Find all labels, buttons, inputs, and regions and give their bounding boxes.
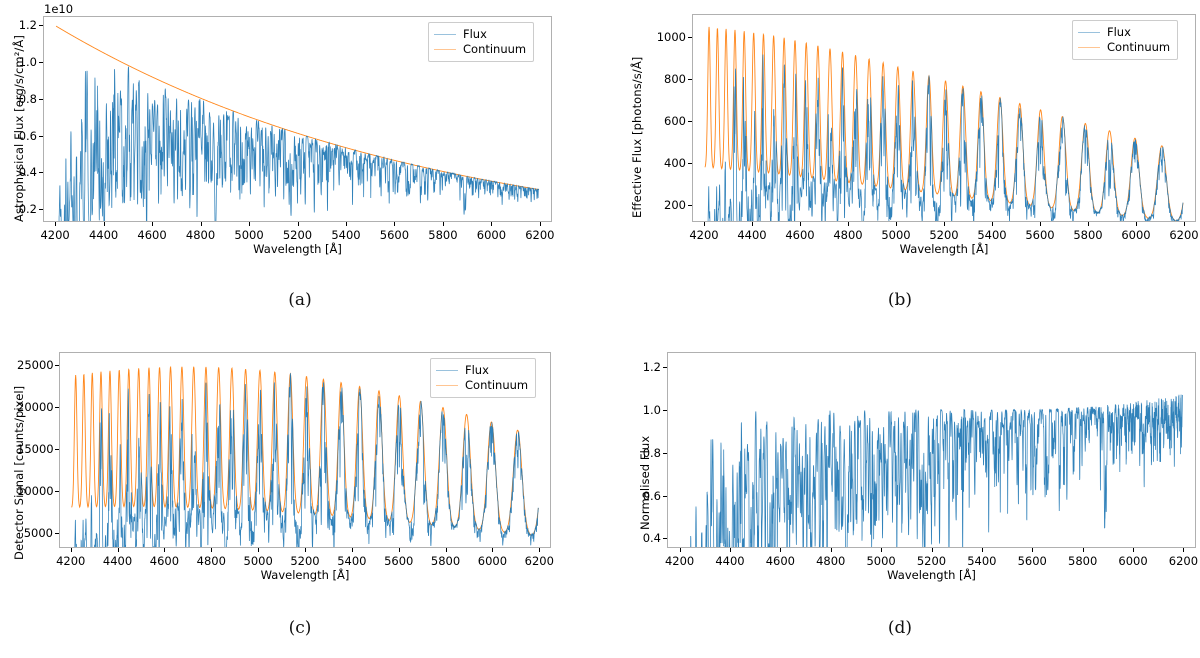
legend-swatch-flux — [434, 34, 456, 35]
panel-d-xtick-label: 4600 — [766, 554, 795, 568]
panel-c-xtick-mark — [539, 548, 540, 552]
panel-d-ytick-mark — [663, 453, 667, 454]
legend-swatch-flux — [1078, 32, 1100, 33]
panel-b-xlabel: Wavelength [Å] — [692, 242, 1196, 256]
panel-c-xtick-mark — [71, 548, 72, 552]
panel-a-xtick-label: 5800 — [428, 228, 457, 242]
panel-a-ytick-mark — [39, 99, 43, 100]
panel-d-xtick-mark — [1083, 548, 1084, 552]
panel-a-xtick-label: 6200 — [525, 228, 554, 242]
panel-d-xtick-label: 5800 — [1068, 554, 1097, 568]
panel-a-legend[interactable]: Flux Continuum — [428, 22, 534, 62]
panel-b-ytick-label: 200 — [650, 198, 686, 212]
panel-c-xtick-mark — [164, 548, 165, 552]
panel-b-xtick-label: 5800 — [1073, 228, 1102, 242]
panel-c-legend[interactable]: Flux Continuum — [430, 358, 536, 398]
panel-c-xtick-mark — [118, 548, 119, 552]
figure-root: Astrophysical Flux [erg/s/cm²/Å] 1e10 0.… — [0, 0, 1200, 658]
legend-swatch-flux — [436, 370, 458, 371]
panel-d-ytick-mark — [663, 367, 667, 368]
legend-label-continuum: Continuum — [1107, 40, 1170, 55]
panel-a-xtick-label: 5400 — [331, 228, 360, 242]
panel-b-xtick-label: 6000 — [1121, 228, 1150, 242]
panel-d-xtick-label: 4200 — [665, 554, 694, 568]
panel-d-series-canvas — [668, 353, 1195, 547]
panel-c-xtick-label: 4400 — [103, 554, 132, 568]
legend-label-continuum: Continuum — [465, 378, 528, 393]
panel-d-xtick-mark — [831, 548, 832, 552]
panel-d-ytick-mark — [663, 496, 667, 497]
panel-c-xtick-label: 5600 — [384, 554, 413, 568]
panel-c-xlabel: Wavelength [Å] — [59, 568, 551, 582]
panel-c-ytick-mark — [55, 491, 59, 492]
panel-a-ytick-label: 0.2 — [1, 202, 37, 216]
panel-b-xtick-mark — [1088, 222, 1089, 226]
legend-entry-continuum: Continuum — [1078, 40, 1170, 55]
panel-a-caption: (a) — [0, 290, 600, 310]
panel-c: Detector Signal [counts/pixel] 500010000… — [0, 330, 600, 658]
panel-a-ytick-mark — [39, 136, 43, 137]
panel-b-ylabel: Effective Flux [photons/s/Å] — [630, 57, 644, 218]
panel-d-ytick-mark — [663, 538, 667, 539]
panel-c-xtick-mark — [399, 548, 400, 552]
panel-c-ytick-mark — [55, 365, 59, 366]
panel-c-ytick-mark — [55, 449, 59, 450]
legend-label-continuum: Continuum — [463, 42, 526, 57]
panel-c-ytick-label: 5000 — [17, 526, 53, 540]
panel-a-ytick-label: 0.6 — [1, 129, 37, 143]
panel-d-caption: (d) — [600, 618, 1200, 638]
panel-c-xtick-mark — [305, 548, 306, 552]
panel-c-ytick-label: 25000 — [17, 358, 53, 372]
panel-c-caption: (c) — [0, 618, 600, 638]
panel-b-xtick-label: 4200 — [689, 228, 718, 242]
panel-d-ytick-label: 0.4 — [625, 531, 661, 545]
panel-a: Astrophysical Flux [erg/s/cm²/Å] 1e10 0.… — [0, 0, 600, 330]
panel-d-xtick-label: 5400 — [967, 554, 996, 568]
panel-a-xtick-label: 4600 — [137, 228, 166, 242]
panel-b-xtick-label: 4800 — [833, 228, 862, 242]
panel-c-xtick-mark — [446, 548, 447, 552]
panel-d-xtick-label: 6200 — [1169, 554, 1198, 568]
panel-b-xtick-mark — [848, 222, 849, 226]
panel-d-xtick-mark — [1032, 548, 1033, 552]
panel-a-ytick-mark — [39, 172, 43, 173]
panel-a-xtick-label: 4800 — [186, 228, 215, 242]
panel-d-xtick-mark — [1183, 548, 1184, 552]
panel-c-xtick-label: 4600 — [150, 554, 179, 568]
panel-b-ytick-mark — [688, 79, 692, 80]
panel-c-ytick-mark — [55, 533, 59, 534]
panel-b-xtick-label: 5400 — [977, 228, 1006, 242]
panel-c-xtick-mark — [211, 548, 212, 552]
panel-b-ytick-mark — [688, 163, 692, 164]
panel-a-xtick-mark — [104, 222, 105, 226]
legend-entry-flux: Flux — [434, 27, 526, 42]
panel-c-xtick-label: 4200 — [56, 554, 85, 568]
panel-b-ytick-label: 600 — [650, 114, 686, 128]
panel-a-ytick-mark — [39, 62, 43, 63]
legend-label-flux: Flux — [1107, 25, 1131, 40]
panel-c-xtick-mark — [492, 548, 493, 552]
panel-d-xtick-label: 5600 — [1018, 554, 1047, 568]
panel-c-xtick-label: 5800 — [431, 554, 460, 568]
panel-d-xtick-label: 4800 — [816, 554, 845, 568]
legend-entry-continuum: Continuum — [436, 378, 528, 393]
panel-b-xtick-mark — [1184, 222, 1185, 226]
panel-a-xtick-label: 5000 — [234, 228, 263, 242]
panel-d-xtick-mark — [932, 548, 933, 552]
legend-label-flux: Flux — [463, 27, 487, 42]
legend-entry-continuum: Continuum — [434, 42, 526, 57]
panel-a-xtick-mark — [491, 222, 492, 226]
panel-b-xtick-mark — [704, 222, 705, 226]
panel-c-ytick-label: 10000 — [17, 484, 53, 498]
panel-a-ytick-label: 1.2 — [1, 18, 37, 32]
panel-b-xtick-mark — [752, 222, 753, 226]
panel-c-xtick-label: 5000 — [244, 554, 273, 568]
legend-swatch-continuum — [436, 385, 458, 386]
panel-a-xlabel: Wavelength [Å] — [43, 242, 552, 256]
panel-a-xtick-label: 5200 — [283, 228, 312, 242]
panel-b-xtick-label: 5600 — [1025, 228, 1054, 242]
panel-d-ytick-label: 1.2 — [625, 360, 661, 374]
panel-d-xtick-mark — [680, 548, 681, 552]
panel-a-xtick-mark — [394, 222, 395, 226]
panel-d-flux-line — [681, 395, 1183, 547]
legend-swatch-continuum — [434, 49, 456, 50]
panel-b-xtick-label: 5200 — [929, 228, 958, 242]
panel-d-xtick-mark — [881, 548, 882, 552]
panel-b-xtick-mark — [800, 222, 801, 226]
panel-b-xtick-label: 5000 — [881, 228, 910, 242]
panel-b-xtick-label: 4400 — [737, 228, 766, 242]
panel-a-xtick-mark — [298, 222, 299, 226]
legend-entry-flux: Flux — [1078, 25, 1170, 40]
panel-a-xtick-label: 5600 — [380, 228, 409, 242]
panel-c-ytick-mark — [55, 407, 59, 408]
panel-b-ytick-label: 400 — [650, 156, 686, 170]
panel-b-ytick-label: 800 — [650, 72, 686, 86]
panel-d-xtick-mark — [982, 548, 983, 552]
panel-b-ytick-mark — [688, 37, 692, 38]
panel-b-xtick-mark — [896, 222, 897, 226]
panel-a-xtick-mark — [152, 222, 153, 226]
panel-d-ytick-label: 0.8 — [625, 446, 661, 460]
panel-d-xtick-label: 6000 — [1118, 554, 1147, 568]
panel-b-xtick-mark — [992, 222, 993, 226]
panel-c-xtick-mark — [258, 548, 259, 552]
panel-a-xtick-label: 6000 — [477, 228, 506, 242]
panel-b-xtick-mark — [944, 222, 945, 226]
panel-b-caption: (b) — [600, 290, 1200, 310]
panel-d-plot-area — [667, 352, 1196, 548]
panel-b-ytick-mark — [688, 205, 692, 206]
panel-c-xtick-mark — [352, 548, 353, 552]
panel-a-xtick-label: 4200 — [40, 228, 69, 242]
panel-a-xtick-mark — [249, 222, 250, 226]
panel-a-ytick-mark — [39, 25, 43, 26]
panel-a-flux-line — [56, 67, 539, 221]
panel-a-xtick-mark — [346, 222, 347, 226]
panel-b-xtick-label: 4600 — [785, 228, 814, 242]
panel-a-xtick-mark — [55, 222, 56, 226]
panel-a-ytick-label: 1.0 — [1, 55, 37, 69]
panel-b: Effective Flux [photons/s/Å] 20040060080… — [600, 0, 1200, 330]
legend-entry-flux: Flux — [436, 363, 528, 378]
panel-b-ytick-label: 1000 — [650, 30, 686, 44]
panel-a-xtick-mark — [201, 222, 202, 226]
panel-a-xtick-mark — [540, 222, 541, 226]
panel-c-xtick-label: 5200 — [290, 554, 319, 568]
panel-c-xtick-label: 5400 — [337, 554, 366, 568]
panel-b-legend[interactable]: Flux Continuum — [1072, 20, 1178, 60]
panel-c-xtick-label: 6200 — [525, 554, 554, 568]
panel-d-xtick-label: 5000 — [866, 554, 895, 568]
panel-b-xtick-mark — [1136, 222, 1137, 226]
panel-d-ytick-mark — [663, 410, 667, 411]
panel-c-ytick-label: 15000 — [17, 442, 53, 456]
panel-a-ytick-label: 0.8 — [1, 92, 37, 106]
panel-d-xtick-mark — [780, 548, 781, 552]
legend-label-flux: Flux — [465, 363, 489, 378]
panel-a-xtick-mark — [443, 222, 444, 226]
panel-d-xtick-label: 5200 — [917, 554, 946, 568]
panel-d-xlabel: Wavelength [Å] — [667, 568, 1196, 582]
panel-d-xtick-mark — [730, 548, 731, 552]
panel-d-xtick-label: 4400 — [715, 554, 744, 568]
panel-d-xtick-mark — [1133, 548, 1134, 552]
panel-d: Normalised Flux 0.40.60.81.01.2 42004400… — [600, 330, 1200, 658]
panel-c-ytick-label: 20000 — [17, 400, 53, 414]
panel-a-ytick-mark — [39, 209, 43, 210]
panel-d-ytick-label: 0.6 — [625, 489, 661, 503]
panel-d-ytick-label: 1.0 — [625, 403, 661, 417]
panel-c-xtick-label: 4800 — [197, 554, 226, 568]
panel-b-ytick-mark — [688, 121, 692, 122]
panel-a-ytick-label: 0.4 — [1, 165, 37, 179]
panel-b-xtick-label: 6200 — [1169, 228, 1198, 242]
legend-swatch-continuum — [1078, 47, 1100, 48]
panel-b-xtick-mark — [1040, 222, 1041, 226]
panel-a-y-offset-text: 1e10 — [44, 2, 73, 16]
panel-c-xtick-label: 6000 — [478, 554, 507, 568]
panel-a-xtick-label: 4400 — [89, 228, 118, 242]
